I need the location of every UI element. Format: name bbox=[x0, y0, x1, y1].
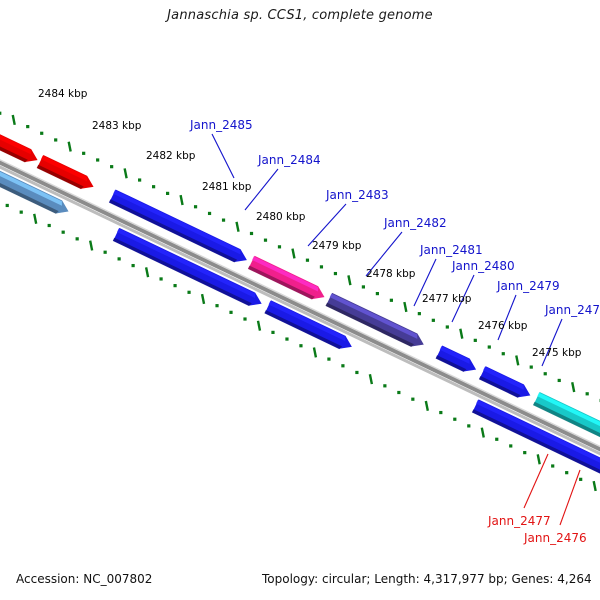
ruler-tick-label: 2476 kbp bbox=[478, 320, 527, 332]
ruler-tick-label: 2481 kbp bbox=[202, 181, 251, 193]
gene-label-jann_2476[interactable]: Jann_2476 bbox=[524, 531, 587, 545]
gene-label-jann_2484[interactable]: Jann_2484 bbox=[258, 153, 321, 167]
ruler-tick-label: 2482 kbp bbox=[146, 150, 195, 162]
gene-label-jann_2479[interactable]: Jann_2479 bbox=[497, 279, 560, 293]
gene-label-jann_2482[interactable]: Jann_2482 bbox=[384, 216, 447, 230]
genome-viewer: Jannaschia sp. CCS1, complete genome 248… bbox=[0, 0, 600, 600]
ruler-tick-label: 2483 kbp bbox=[92, 120, 141, 132]
genome-summary-text: Topology: circular; Length: 4,317,977 bp… bbox=[262, 572, 592, 586]
ruler-tick-label: 2477 kbp bbox=[422, 293, 471, 305]
genome-map-canvas bbox=[0, 0, 600, 600]
ruler-tick-label: 2475 kbp bbox=[532, 347, 581, 359]
leader-line-jann_2476 bbox=[560, 470, 580, 525]
leader-line-jann_2485 bbox=[212, 134, 234, 178]
gene-jann2481[interactable] bbox=[436, 345, 477, 372]
gene-label-jann_2480[interactable]: Jann_2480 bbox=[452, 259, 515, 273]
ruler-tick-label: 2480 kbp bbox=[256, 211, 305, 223]
gene-label-jann_2478[interactable]: Jann_2478 bbox=[545, 303, 600, 317]
leader-line-jann_2479 bbox=[498, 295, 516, 340]
gene-label-jann_2481[interactable]: Jann_2481 bbox=[420, 243, 483, 257]
accession-text: Accession: NC_007802 bbox=[16, 572, 152, 586]
gene-label-jann_2477[interactable]: Jann_2477 bbox=[488, 514, 551, 528]
gene-label-jann_2485[interactable]: Jann_2485 bbox=[190, 118, 253, 132]
ruler-tick-label: 2484 kbp bbox=[38, 88, 87, 100]
gene-jann2484[interactable] bbox=[248, 255, 325, 299]
ruler-tick-label: 2478 kbp bbox=[366, 268, 415, 280]
ruler-tick-label: 2479 kbp bbox=[312, 240, 361, 252]
leader-line-jann_2477 bbox=[524, 454, 548, 508]
gene-label-jann_2483[interactable]: Jann_2483 bbox=[326, 188, 389, 202]
gene-red-1[interactable] bbox=[0, 119, 38, 162]
